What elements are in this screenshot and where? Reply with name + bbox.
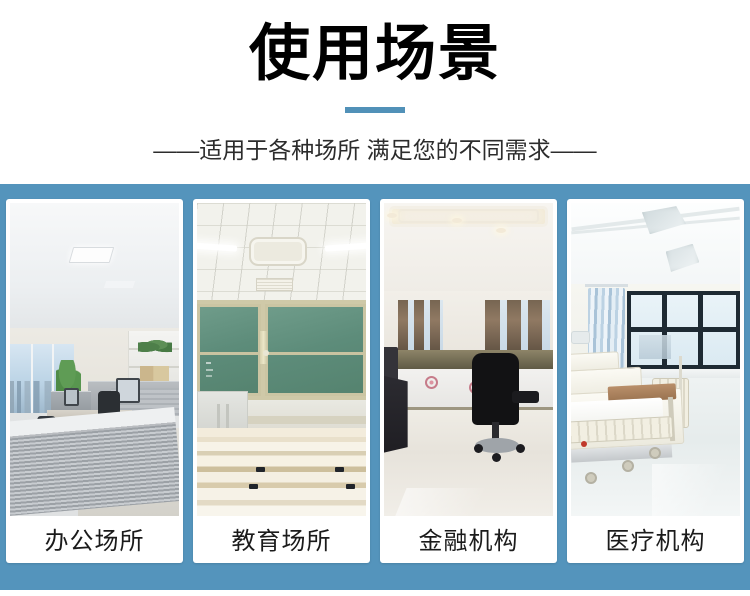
classroom-board-divider-column [260, 331, 267, 364]
hospital-bed-caster [649, 447, 661, 459]
office-monitor-secondary [64, 388, 79, 407]
hospital-bed-release-button-icon [581, 441, 587, 447]
hospital-wall-fixture [571, 331, 590, 344]
page-title: 使用场景 [0, 18, 750, 88]
scene-label-education: 教育场所 [197, 516, 366, 563]
classroom-chalk-rail [248, 416, 366, 424]
scene-card-medical[interactable]: 医疗机构 [567, 199, 744, 563]
bank-chair-caster [474, 444, 483, 453]
bank-chair-caster [516, 444, 525, 453]
hospital-curtain-rod [585, 284, 629, 287]
classroom-ceiling-ac-unit [249, 237, 306, 265]
office-interior-photo [10, 203, 179, 516]
bank-floor [384, 410, 553, 516]
office-panel-light-icon [69, 247, 114, 263]
classroom-air-vent [256, 278, 293, 291]
office-panel-light-secondary-icon [104, 281, 135, 288]
bank-counter-face [384, 369, 553, 410]
office-monitor [116, 378, 140, 403]
hospital-window [627, 291, 740, 369]
bank-kiosk [384, 375, 408, 453]
classroom-interior-photo [197, 203, 366, 516]
office-ceiling [10, 203, 179, 331]
bank-office-chair [472, 353, 519, 425]
classroom-chalk-writing [206, 360, 223, 381]
classroom-blackboard-left [197, 304, 261, 396]
title-accent-rule [345, 107, 405, 113]
use-case-section: 使用场景 ——适用于各种场所 满足您的不同需求—— [0, 0, 750, 596]
scene-card-education[interactable]: 教育场所 [193, 199, 370, 563]
scene-label-finance: 金融机构 [384, 516, 553, 563]
bank-ceiling [384, 203, 553, 294]
scene-label-medical: 医疗机构 [571, 516, 740, 563]
bank-interior-photo [384, 203, 553, 516]
classroom-desk-rows [197, 428, 366, 516]
bank-window-left [398, 300, 444, 350]
bank-window-right [485, 300, 549, 350]
scene-label-office: 办公场所 [10, 516, 179, 563]
section-header: 使用场景 ——适用于各种场所 满足您的不同需求—— [0, 0, 750, 184]
hospital-ward-photo [571, 203, 740, 516]
scene-card-office[interactable]: 办公场所 [6, 199, 183, 563]
page-subtitle: ——适用于各种场所 满足您的不同需求—— [0, 134, 750, 166]
bank-chair-armrest [512, 391, 539, 404]
bank-logo-medallion-icon [425, 376, 438, 389]
scene-card-list: 办公场所 [6, 199, 744, 563]
office-foreground-slats [10, 424, 179, 516]
hospital-outside-building [639, 335, 671, 359]
classroom-blackboard-right [265, 304, 366, 396]
hospital-bed-caster [622, 460, 634, 472]
scene-card-finance[interactable]: 金融机构 [380, 199, 557, 563]
bank-floor-reflection [395, 488, 484, 516]
bank-downlight-icon [496, 228, 506, 233]
office-foreground-partition [10, 407, 179, 516]
office-shelf-plants [138, 338, 172, 354]
hospital-bed-caster [585, 472, 597, 484]
bank-cove-lighting-inner [398, 209, 540, 223]
hospital-floor-reflection [652, 464, 740, 516]
classroom-blackboard-wall [197, 300, 366, 400]
